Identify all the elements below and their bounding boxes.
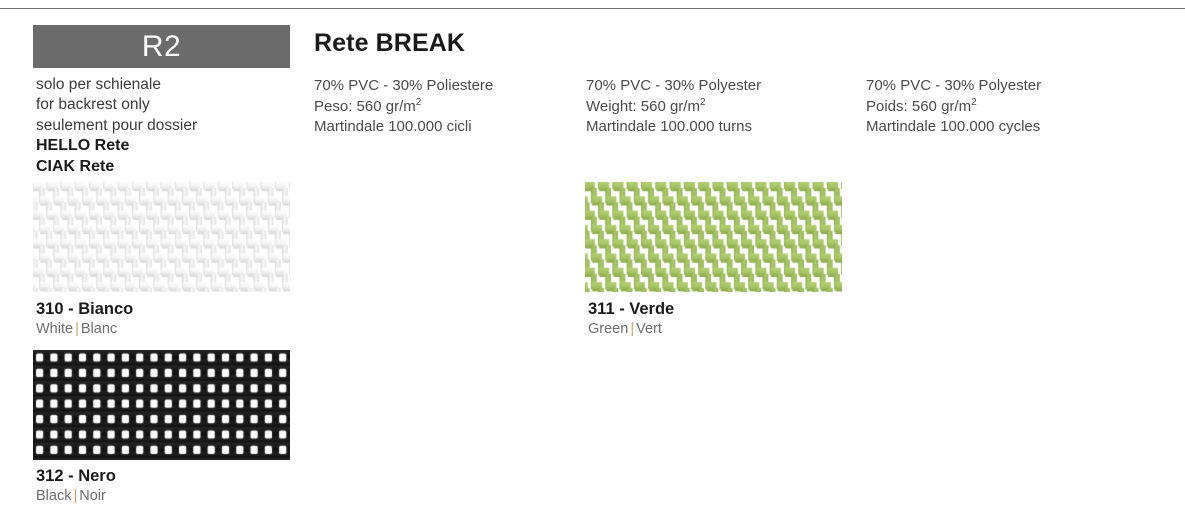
spec-martindale-en: Martindale 100.000 turns [586, 117, 866, 138]
fabric-name-en-310: White [36, 321, 73, 337]
note-line-fr: seulement pour dossier [36, 116, 306, 136]
separator-icon: | [628, 321, 636, 337]
fabric-swatch-311-texture [585, 182, 842, 292]
fabric-caption-311: 311 - Verde Green|Vert [588, 299, 888, 339]
spec-weight-en: Weight: 560 gr/m2 [586, 97, 866, 118]
note-line-model-hello: HELLO Rete [36, 136, 306, 157]
fabric-translations-311: Green|Vert [588, 320, 888, 339]
fabric-swatch-310[interactable] [33, 182, 290, 292]
fabric-caption-310: 310 - Bianco White|Blanc [36, 299, 336, 339]
fabric-translations-310: White|Blanc [36, 320, 336, 339]
spec-weight-exponent-it: 2 [416, 97, 422, 108]
spec-weight-exponent-en: 2 [700, 97, 706, 108]
fabric-name-fr-310: Blanc [81, 321, 117, 337]
spec-weight-it: Peso: 560 gr/m2 [314, 97, 594, 118]
fabric-translations-312: Black|Noir [36, 487, 336, 506]
spec-weight-value-it: 560 gr/m [357, 98, 416, 115]
spec-weight-fr: Poids: 560 gr/m2 [866, 97, 1146, 118]
fabric-name-310: 310 - Bianco [36, 299, 336, 320]
spec-martindale-it: Martindale 100.000 cicli [314, 117, 594, 138]
spec-weight-label-en: Weight: [586, 98, 637, 115]
fabric-name-312: 312 - Nero [36, 466, 336, 487]
note-line-en: for backrest only [36, 95, 306, 115]
fabric-name-fr-312: Noir [79, 488, 106, 504]
spec-weight-value-en: 560 gr/m [641, 98, 700, 115]
spec-weight-label-it: Peso: [314, 98, 352, 115]
spec-column-english: 70% PVC - 30% Polyester Weight: 560 gr/m… [586, 76, 866, 138]
usage-notes: solo per schienale for backrest only seu… [36, 75, 306, 177]
spec-composition-en: 70% PVC - 30% Polyester [586, 76, 866, 97]
fabric-name-en-311: Green [588, 321, 628, 337]
fabric-swatch-312[interactable] [33, 350, 290, 460]
fabric-name-311: 311 - Verde [588, 299, 888, 320]
fabric-swatch-310-texture [33, 182, 290, 292]
product-title: Rete BREAK [314, 31, 465, 56]
spec-composition-it: 70% PVC - 30% Poliestere [314, 76, 594, 97]
fabric-name-fr-311: Vert [636, 321, 662, 337]
material-code-label: R2 [142, 32, 181, 62]
spec-martindale-fr: Martindale 100.000 cycles [866, 117, 1146, 138]
spec-column-italian: 70% PVC - 30% Poliestere Peso: 560 gr/m2… [314, 76, 594, 138]
material-code-badge: R2 [33, 25, 290, 68]
fabric-name-en-312: Black [36, 488, 71, 504]
spec-composition-fr: 70% PVC - 30% Polyester [866, 76, 1146, 97]
spec-weight-value-fr: 560 gr/m [912, 98, 971, 115]
spec-weight-exponent-fr: 2 [971, 97, 977, 108]
separator-icon: | [73, 321, 81, 337]
spec-column-french: 70% PVC - 30% Polyester Poids: 560 gr/m2… [866, 76, 1146, 138]
fabric-caption-312: 312 - Nero Black|Noir [36, 466, 336, 506]
note-line-model-ciak: CIAK Rete [36, 157, 306, 178]
note-line-it: solo per schienale [36, 75, 306, 95]
spec-weight-label-fr: Poids: [866, 98, 908, 115]
fabric-swatch-312-texture [33, 350, 290, 460]
top-divider-rule [0, 8, 1185, 9]
fabric-swatch-311[interactable] [585, 182, 842, 292]
